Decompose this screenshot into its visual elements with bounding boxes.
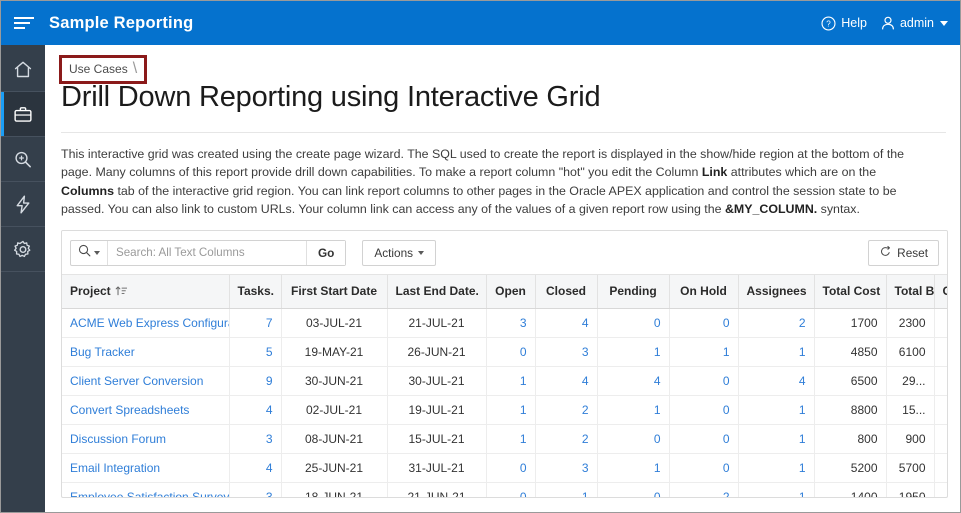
grid-column-header[interactable]: First Start Date xyxy=(281,275,387,308)
grid-cell-total-cost: 6500 xyxy=(814,366,886,395)
grid-cell-open[interactable]: 1 xyxy=(486,366,535,395)
drill-down-link[interactable]: 2 xyxy=(799,316,806,330)
grid-column-label: Assignees xyxy=(747,284,807,298)
drill-down-link[interactable]: 0 xyxy=(723,432,730,446)
grid-cell-project[interactable]: Email Integration xyxy=(62,453,229,482)
drill-down-link[interactable]: 1 xyxy=(799,461,806,475)
grid-cell-total-budget: 5700 xyxy=(886,453,934,482)
drill-down-link[interactable]: Email Integration xyxy=(70,461,160,475)
app-window: Sample Reporting ? Help ad xyxy=(0,0,961,513)
grid-cell-project[interactable]: Convert Spreadsheets xyxy=(62,395,229,424)
grid-toolbar: Go Actions Reset xyxy=(62,231,947,275)
gear-icon xyxy=(12,239,34,260)
grid-cell-cost-vs-budget: 1250 xyxy=(934,337,947,366)
drill-down-link[interactable]: 1 xyxy=(654,345,661,359)
grid-cell-total-cost: 1400 xyxy=(814,482,886,498)
grid-cell-open[interactable]: 0 xyxy=(486,482,535,498)
grid-column-header[interactable]: Open xyxy=(486,275,535,308)
grid-cell-project[interactable]: Client Server Conversion xyxy=(62,366,229,395)
drill-down-link[interactable]: 4 xyxy=(266,461,273,475)
grid-cell-cost-vs-budget: 600 xyxy=(934,308,947,337)
drill-down-link[interactable]: 0 xyxy=(520,345,527,359)
grid-cell-last-end-date: 31-JUL-21 xyxy=(387,453,486,482)
chevron-down-icon xyxy=(940,21,948,26)
user-menu-button[interactable]: admin xyxy=(881,16,948,31)
grid-cell-total-budget: 29... xyxy=(886,366,934,395)
page-title: Drill Down Reporting using Interactive G… xyxy=(45,79,961,114)
grid-cell-closed[interactable]: 4 xyxy=(535,308,597,337)
table-row[interactable]: Discussion Forum308-JUN-2115-JUL-2112001… xyxy=(62,424,947,453)
drill-down-link[interactable]: 0 xyxy=(723,403,730,417)
table-row[interactable]: Bug Tracker519-MAY-2126-JUN-210311148506… xyxy=(62,337,947,366)
grid-cell-on-hold[interactable]: 2 xyxy=(669,482,738,498)
drill-down-link[interactable]: 1 xyxy=(654,461,661,475)
grid-column-label: Closed xyxy=(546,284,586,298)
drill-down-link[interactable]: 0 xyxy=(723,316,730,330)
description-text: syntax. xyxy=(817,202,860,216)
grid-cell-project[interactable]: ACME Web Express Configurat... xyxy=(62,308,229,337)
table-row[interactable]: ACME Web Express Configurat...703-JUL-21… xyxy=(62,308,947,337)
grid-cell-total-cost: 1700 xyxy=(814,308,886,337)
grid-cell-closed[interactable]: 3 xyxy=(535,453,597,482)
search-column-selector[interactable] xyxy=(71,241,108,265)
drill-down-link[interactable]: Bug Tracker xyxy=(70,345,135,359)
grid-column-header[interactable]: Pending xyxy=(597,275,669,308)
drill-down-link[interactable]: 0 xyxy=(654,490,661,499)
breadcrumb-separator: \ xyxy=(128,60,137,77)
grid-cell-on-hold[interactable]: 0 xyxy=(669,453,738,482)
sidebar-item-search[interactable] xyxy=(1,137,45,181)
interactive-grid-table: ProjectTasks.First Start DateLast End Da… xyxy=(62,275,947,498)
sort-ascending-icon xyxy=(115,285,128,299)
grid-cell-open[interactable]: 0 xyxy=(486,453,535,482)
grid-cell-first-start-date: 08-JUN-21 xyxy=(281,424,387,453)
hamburger-menu-icon[interactable] xyxy=(1,1,47,45)
grid-cell-tasks[interactable]: 3 xyxy=(229,482,281,498)
briefcase-icon xyxy=(12,104,34,125)
drill-down-link[interactable]: 4 xyxy=(799,374,806,388)
grid-cell-open[interactable]: 1 xyxy=(486,395,535,424)
drill-down-link[interactable]: 0 xyxy=(654,316,661,330)
grid-column-label: Pending xyxy=(609,284,656,298)
grid-cell-on-hold[interactable]: 0 xyxy=(669,366,738,395)
svg-text:?: ? xyxy=(826,19,831,28)
drill-down-link[interactable]: 2 xyxy=(582,432,589,446)
drill-down-link[interactable]: 0 xyxy=(723,374,730,388)
top-navigation-bar: Sample Reporting ? Help ad xyxy=(1,1,961,45)
grid-cell-project[interactable]: Bug Tracker xyxy=(62,337,229,366)
drill-down-link[interactable]: 4 xyxy=(654,374,661,388)
table-row[interactable]: Employee Satisfaction Survey318-JUN-2121… xyxy=(62,482,947,498)
grid-header-row: ProjectTasks.First Start DateLast End Da… xyxy=(62,275,947,308)
drill-down-link[interactable]: 1 xyxy=(723,345,730,359)
grid-cell-last-end-date: 19-JUL-21 xyxy=(387,395,486,424)
grid-cell-assignees[interactable]: 1 xyxy=(738,395,814,424)
grid-cell-on-hold[interactable]: 0 xyxy=(669,308,738,337)
grid-scroll-area[interactable]: ProjectTasks.First Start DateLast End Da… xyxy=(62,275,947,498)
breadcrumb-highlight: Use Cases\ xyxy=(59,55,147,84)
go-button[interactable]: Go xyxy=(306,241,345,265)
drill-down-link[interactable]: 3 xyxy=(582,345,589,359)
grid-cell-on-hold[interactable]: 0 xyxy=(669,395,738,424)
grid-column-header[interactable]: Tasks. xyxy=(229,275,281,308)
drill-down-link[interactable]: 4 xyxy=(582,374,589,388)
search-input[interactable] xyxy=(108,241,306,265)
grid-cell-first-start-date: 19-MAY-21 xyxy=(281,337,387,366)
grid-cell-project[interactable]: Discussion Forum xyxy=(62,424,229,453)
drill-down-link[interactable]: 3 xyxy=(266,490,273,499)
grid-cell-total-budget: 2300 xyxy=(886,308,934,337)
grid-cell-open[interactable]: 0 xyxy=(486,337,535,366)
grid-cell-pending[interactable]: 0 xyxy=(597,308,669,337)
drill-down-link[interactable]: Discussion Forum xyxy=(70,432,166,446)
app-title: Sample Reporting xyxy=(49,14,193,33)
drill-down-link[interactable]: 1 xyxy=(520,374,527,388)
grid-cell-total-cost: 4850 xyxy=(814,337,886,366)
help-label: Help xyxy=(841,16,867,30)
grid-cell-open[interactable]: 1 xyxy=(486,424,535,453)
grid-cell-last-end-date: 21-JUL-21 xyxy=(387,308,486,337)
grid-cell-cost-vs-budget: 500 xyxy=(934,453,947,482)
actions-label: Actions xyxy=(374,246,413,260)
grid-cell-total-budget: 15... xyxy=(886,395,934,424)
sidebar-item-home[interactable] xyxy=(1,47,45,91)
grid-cell-assignees[interactable]: 1 xyxy=(738,424,814,453)
grid-cell-first-start-date: 03-JUL-21 xyxy=(281,308,387,337)
grid-cell-assignees[interactable]: 1 xyxy=(738,337,814,366)
drill-down-link[interactable]: Client Server Conversion xyxy=(70,374,203,388)
help-circle-icon: ? xyxy=(821,16,836,31)
home-icon xyxy=(12,59,34,80)
grid-cell-assignees[interactable]: 1 xyxy=(738,453,814,482)
grid-cell-last-end-date: 26-JUN-21 xyxy=(387,337,486,366)
drill-down-link[interactable]: 1 xyxy=(799,490,806,499)
grid-column-label: Last End Date. xyxy=(396,284,479,298)
chevron-down-icon xyxy=(94,251,100,255)
search-group: Go xyxy=(70,240,346,266)
breadcrumb-item-use-cases[interactable]: Use Cases xyxy=(69,62,128,76)
grid-column-header[interactable]: Total Cost xyxy=(814,275,886,308)
grid-cell-project[interactable]: Employee Satisfaction Survey xyxy=(62,482,229,498)
drill-down-link[interactable]: Convert Spreadsheets xyxy=(70,403,189,417)
grid-cell-total-budget: 900 xyxy=(886,424,934,453)
drill-down-link[interactable]: 0 xyxy=(723,461,730,475)
help-button[interactable]: ? Help xyxy=(821,16,867,31)
grid-cell-closed[interactable]: 1 xyxy=(535,482,597,498)
reset-label: Reset xyxy=(897,246,928,260)
table-row[interactable]: Convert Spreadsheets402-JUL-2119-JUL-211… xyxy=(62,395,947,424)
grid-column-header[interactable]: Cost Vs Bu xyxy=(934,275,947,308)
grid-cell-assignees[interactable]: 2 xyxy=(738,308,814,337)
grid-cell-closed[interactable]: 2 xyxy=(535,395,597,424)
sidebar-divider xyxy=(1,271,45,272)
grid-cell-pending[interactable]: 1 xyxy=(597,337,669,366)
grid-cell-last-end-date: 15-JUL-21 xyxy=(387,424,486,453)
grid-cell-cost-vs-budget: 100 xyxy=(934,424,947,453)
grid-cell-cost-vs-budget: 23200 xyxy=(934,366,947,395)
grid-column-label: Total Cost xyxy=(823,284,881,298)
grid-cell-last-end-date: 30-JUL-21 xyxy=(387,366,486,395)
drill-down-link[interactable]: 0 xyxy=(520,490,527,499)
grid-cell-tasks[interactable]: 4 xyxy=(229,453,281,482)
grid-cell-open[interactable]: 3 xyxy=(486,308,535,337)
grid-cell-pending[interactable]: 0 xyxy=(597,482,669,498)
grid-column-label: Total B xyxy=(895,284,935,298)
drill-down-link[interactable]: 1 xyxy=(582,490,589,499)
drill-down-link[interactable]: 4 xyxy=(582,316,589,330)
grid-cell-on-hold[interactable]: 0 xyxy=(669,424,738,453)
sidebar-navigation xyxy=(1,45,45,513)
grid-cell-closed[interactable]: 4 xyxy=(535,366,597,395)
grid-header: ProjectTasks.First Start DateLast End Da… xyxy=(62,275,947,308)
interactive-grid-region: Go Actions Reset xyxy=(61,230,948,498)
drill-down-link[interactable]: 2 xyxy=(582,403,589,417)
grid-cell-first-start-date: 02-JUL-21 xyxy=(281,395,387,424)
table-row[interactable]: Email Integration425-JUN-2131-JUL-210310… xyxy=(62,453,947,482)
chevron-down-icon xyxy=(418,251,424,255)
top-bar-right-group: ? Help admin xyxy=(821,16,961,31)
grid-column-label: Open xyxy=(495,284,526,298)
grid-cell-last-end-date: 21-JUN-21 xyxy=(387,482,486,498)
reset-icon xyxy=(879,245,892,261)
grid-cell-total-budget: 6100 xyxy=(886,337,934,366)
user-label: admin xyxy=(900,16,934,30)
grid-column-label: Cost Vs Bu xyxy=(943,284,948,298)
grid-cell-total-cost: 800 xyxy=(814,424,886,453)
grid-column-header[interactable]: Last End Date. xyxy=(387,275,486,308)
table-row[interactable]: Client Server Conversion930-JUN-2130-JUL… xyxy=(62,366,947,395)
grid-column-header[interactable]: Total B xyxy=(886,275,934,308)
drill-down-link[interactable]: Employee Satisfaction Survey xyxy=(70,490,229,499)
grid-column-header[interactable]: Assignees xyxy=(738,275,814,308)
grid-cell-total-budget: 1950 xyxy=(886,482,934,498)
reset-button[interactable]: Reset xyxy=(868,240,939,266)
drill-down-link[interactable]: 9 xyxy=(266,374,273,388)
grid-cell-tasks[interactable]: 9 xyxy=(229,366,281,395)
grid-column-header[interactable]: Project xyxy=(62,275,229,308)
drill-down-link[interactable]: 3 xyxy=(266,432,273,446)
grid-cell-first-start-date: 30-JUN-21 xyxy=(281,366,387,395)
grid-cell-pending[interactable]: 1 xyxy=(597,453,669,482)
description-emphasis: Columns xyxy=(61,184,114,198)
grid-cell-first-start-date: 18-JUN-21 xyxy=(281,482,387,498)
drill-down-link[interactable]: 1 xyxy=(799,432,806,446)
sidebar-item-use-cases[interactable] xyxy=(1,92,45,136)
grid-cell-tasks[interactable]: 5 xyxy=(229,337,281,366)
breadcrumb-region: Use Cases\ xyxy=(45,45,961,79)
grid-cell-closed[interactable]: 2 xyxy=(535,424,597,453)
description-emphasis: Link xyxy=(702,165,727,179)
grid-cell-total-cost: 8800 xyxy=(814,395,886,424)
grid-cell-pending[interactable]: 4 xyxy=(597,366,669,395)
grid-cell-total-cost: 5200 xyxy=(814,453,886,482)
grid-column-header[interactable]: On Hold xyxy=(669,275,738,308)
grid-cell-pending[interactable]: 0 xyxy=(597,424,669,453)
drill-down-link[interactable]: 5 xyxy=(266,345,273,359)
grid-body: ACME Web Express Configurat...703-JUL-21… xyxy=(62,308,947,498)
drill-down-link[interactable]: 3 xyxy=(582,461,589,475)
main-content: Use Cases\ Drill Down Reporting using In… xyxy=(45,45,961,513)
grid-cell-on-hold[interactable]: 1 xyxy=(669,337,738,366)
sidebar-item-quick-actions[interactable] xyxy=(1,182,45,226)
grid-cell-pending[interactable]: 1 xyxy=(597,395,669,424)
grid-cell-cost-vs-budget: 550 xyxy=(934,482,947,498)
grid-cell-first-start-date: 25-JUN-21 xyxy=(281,453,387,482)
search-icon xyxy=(78,244,91,262)
grid-cell-assignees[interactable]: 1 xyxy=(738,482,814,498)
grid-cell-tasks[interactable]: 7 xyxy=(229,308,281,337)
grid-column-label: Tasks. xyxy=(238,284,274,298)
grid-column-header[interactable]: Closed xyxy=(535,275,597,308)
drill-down-link[interactable]: 4 xyxy=(266,403,273,417)
grid-cell-closed[interactable]: 3 xyxy=(535,337,597,366)
drill-down-link[interactable]: 1 xyxy=(520,403,527,417)
drill-down-link[interactable]: 0 xyxy=(654,432,661,446)
grid-cell-cost-vs-budget: 6500 xyxy=(934,395,947,424)
page-description: This interactive grid was created using … xyxy=(45,133,935,218)
drill-down-link[interactable]: 2 xyxy=(723,490,730,499)
actions-button[interactable]: Actions xyxy=(362,240,436,266)
grid-column-label: Project xyxy=(70,284,111,298)
grid-cell-tasks[interactable]: 3 xyxy=(229,424,281,453)
drill-down-link[interactable]: 1 xyxy=(654,403,661,417)
sidebar-item-settings[interactable] xyxy=(1,227,45,271)
drill-down-link[interactable]: ACME Web Express Configurat... xyxy=(70,316,229,330)
grid-column-label: First Start Date xyxy=(291,284,377,298)
drill-down-link[interactable]: 3 xyxy=(520,316,527,330)
description-text: attributes which are on the xyxy=(727,165,876,179)
grid-cell-tasks[interactable]: 4 xyxy=(229,395,281,424)
grid-cell-assignees[interactable]: 4 xyxy=(738,366,814,395)
grid-column-label: On Hold xyxy=(680,284,727,298)
magnify-plus-icon xyxy=(12,149,34,170)
user-icon xyxy=(881,16,895,31)
drill-down-link[interactable]: 7 xyxy=(266,316,273,330)
drill-down-link[interactable]: 1 xyxy=(520,432,527,446)
drill-down-link[interactable]: 1 xyxy=(799,345,806,359)
drill-down-link[interactable]: 0 xyxy=(520,461,527,475)
lightning-bolt-icon xyxy=(12,194,34,215)
drill-down-link[interactable]: 1 xyxy=(799,403,806,417)
description-emphasis: &MY_COLUMN. xyxy=(725,202,817,216)
